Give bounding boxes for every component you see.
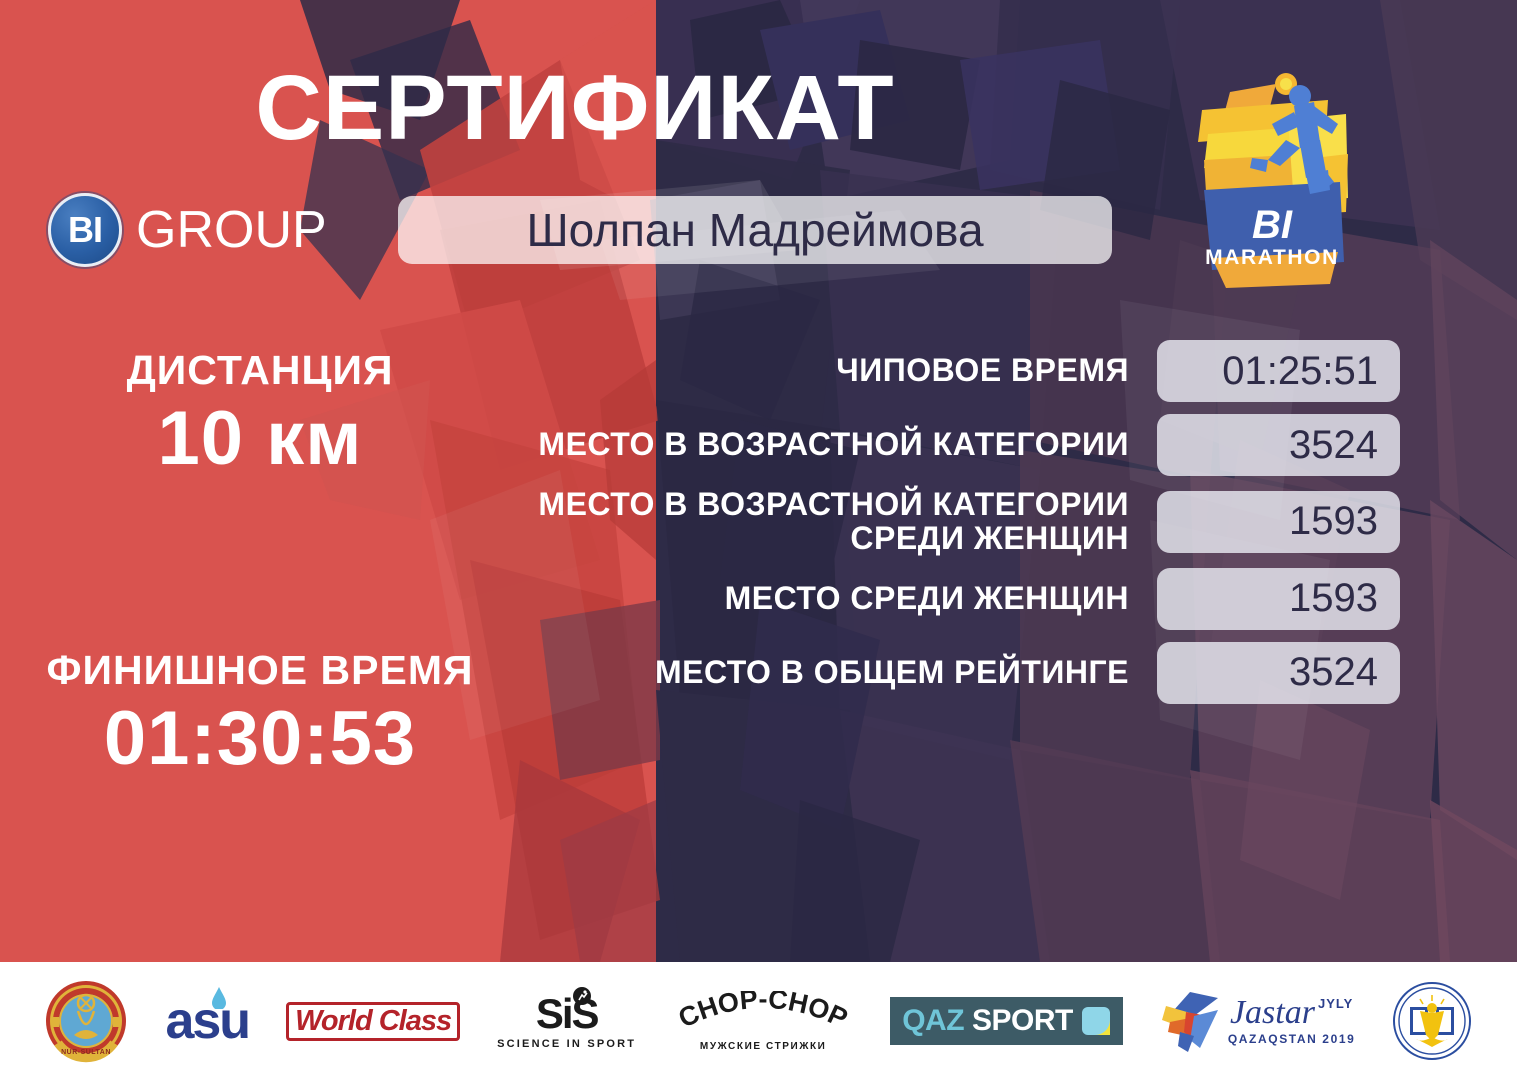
bi-badge-icon: BI bbox=[48, 193, 122, 267]
sponsor-jastar-jyly: Jastar JYLY QAZAQSTAN 2019 bbox=[1160, 973, 1356, 1069]
bi-marathon-logo: BI MARATHON bbox=[1168, 62, 1368, 292]
stat-value: 3524 bbox=[1289, 650, 1378, 695]
participant-name: Шолпан Мадреймова bbox=[526, 203, 983, 257]
stat-label: МЕСТО В ОБЩЕМ РЕЙТИНГЕ bbox=[500, 656, 1157, 690]
sponsor-qazsport: QAZ SPORT bbox=[890, 973, 1123, 1069]
stat-row: ЧИПОВОЕ ВРЕМЯ 01:25:51 bbox=[500, 340, 1400, 402]
page-title: СЕРТИФИКАТ bbox=[0, 62, 1150, 154]
stat-row: МЕСТО В ОБЩЕМ РЕЙТИНГЕ 3524 bbox=[500, 642, 1400, 704]
distance-value: 10 км bbox=[30, 396, 490, 481]
stat-value-pill: 1593 bbox=[1157, 568, 1400, 630]
stat-value-pill: 3524 bbox=[1157, 642, 1400, 704]
jastar-arrow-icon bbox=[1160, 988, 1222, 1054]
nur-sultan-label: NUR-SULTAN bbox=[62, 1049, 112, 1056]
sponsor-nur-sultan-emblem: NUR-SULTAN bbox=[44, 973, 128, 1069]
finish-time-block: ФИНИШНОЕ ВРЕМЯ 01:30:53 bbox=[30, 648, 490, 781]
asu-droplet-icon bbox=[211, 987, 227, 1009]
qazsport-qaz-label: QAZ bbox=[902, 1004, 964, 1038]
qazsport-mark-icon bbox=[1081, 1006, 1111, 1036]
sponsor-ministry-seal bbox=[1392, 973, 1472, 1069]
ministry-seal-icon bbox=[1392, 981, 1472, 1061]
qazsport-badge: QAZ SPORT bbox=[890, 997, 1123, 1045]
qazsport-sport-label: SPORT bbox=[972, 1004, 1073, 1038]
stat-row: МЕСТО В ВОЗРАСТНОЙ КАТЕГОРИИ СРЕДИ ЖЕНЩИ… bbox=[500, 488, 1400, 556]
stat-value-pill: 1593 bbox=[1157, 491, 1400, 553]
world-class-badge: World Class bbox=[286, 1002, 460, 1041]
participant-name-badge: Шолпан Мадреймова bbox=[398, 196, 1112, 264]
asu-wordmark: asu bbox=[165, 995, 249, 1047]
finish-time-label: ФИНИШНОЕ ВРЕМЯ bbox=[30, 648, 490, 692]
nur-sultan-emblem-icon: NUR-SULTAN bbox=[44, 979, 128, 1063]
bi-badge-label: BI bbox=[68, 212, 102, 248]
bi-group-logo: BI GROUP bbox=[48, 193, 327, 267]
stat-value-pill: 01:25:51 bbox=[1157, 340, 1400, 402]
stat-row: МЕСТО СРЕДИ ЖЕНЩИН 1593 bbox=[500, 568, 1400, 630]
certificate-root: СЕРТИФИКАТ BI GROUP Шолпан Мадреймова bbox=[0, 0, 1517, 1080]
world-class-wordmark: World Class bbox=[295, 1007, 451, 1036]
marathon-top-label: BI bbox=[1252, 203, 1293, 247]
distance-block: ДИСТАНЦИЯ 10 км bbox=[30, 348, 490, 481]
sponsor-chop-chop: CHOP-CHOP МУЖСКИЕ СТРИЖКИ bbox=[673, 973, 853, 1069]
distance-label: ДИСТАНЦИЯ bbox=[30, 348, 490, 392]
sponsor-sis: SiS SCIENCE IN SPORT bbox=[497, 973, 636, 1069]
sis-tagline: SCIENCE IN SPORT bbox=[497, 1038, 636, 1050]
stat-value-pill: 3524 bbox=[1157, 414, 1400, 476]
chop-chop-arc-wordmark: CHOP-CHOP bbox=[673, 991, 853, 1035]
sponsor-bar: NUR-SULTAN asu World Class SiS bbox=[0, 962, 1517, 1080]
chop-chop-tagline: МУЖСКИЕ СТРИЖКИ bbox=[700, 1041, 827, 1052]
stat-value: 1593 bbox=[1289, 499, 1378, 544]
stat-value: 01:25:51 bbox=[1222, 349, 1378, 394]
stat-row: МЕСТО В ВОЗРАСТНОЙ КАТЕГОРИИ 3524 bbox=[500, 414, 1400, 476]
bi-group-wordmark: GROUP bbox=[136, 200, 327, 260]
stat-value: 3524 bbox=[1289, 423, 1378, 468]
stat-value: 1593 bbox=[1289, 576, 1378, 621]
marathon-bottom-label: MARATHON bbox=[1205, 246, 1339, 269]
jastar-subtitle: QAZAQSTAN 2019 bbox=[1228, 1032, 1356, 1046]
finish-time-value: 01:30:53 bbox=[30, 696, 490, 781]
sponsor-asu: asu bbox=[165, 973, 249, 1069]
sis-runner-icon bbox=[572, 986, 592, 1006]
stat-label: МЕСТО В ВОЗРАСТНОЙ КАТЕГОРИИ bbox=[500, 428, 1157, 462]
stat-label: ЧИПОВОЕ ВРЕМЯ bbox=[500, 354, 1157, 388]
stats-list: ЧИПОВОЕ ВРЕМЯ 01:25:51 МЕСТО В ВОЗРАСТНО… bbox=[500, 340, 1400, 716]
svg-text:CHOP-CHOP: CHOP-CHOP bbox=[674, 991, 852, 1034]
jastar-jyly-label: JYLY bbox=[1318, 996, 1353, 1011]
stat-label: МЕСТО СРЕДИ ЖЕНЩИН bbox=[500, 582, 1157, 616]
sponsor-world-class: World Class bbox=[286, 973, 460, 1069]
jastar-wordmark: Jastar bbox=[1230, 996, 1315, 1030]
stat-label: МЕСТО В ВОЗРАСТНОЙ КАТЕГОРИИ СРЕДИ ЖЕНЩИ… bbox=[500, 488, 1157, 556]
